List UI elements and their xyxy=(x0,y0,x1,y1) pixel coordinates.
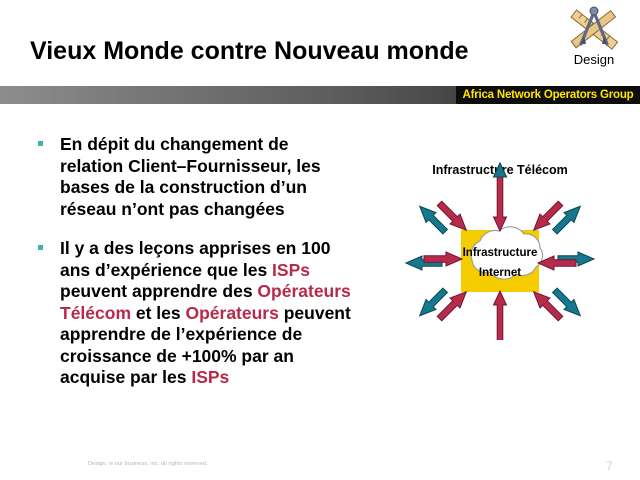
text-run: Opérateurs xyxy=(185,303,278,323)
bullet-text-1: En dépit du changement de relation Clien… xyxy=(60,134,321,219)
compass-ruler-icon xyxy=(566,4,622,52)
cloud-label-line-2: Internet xyxy=(440,267,560,279)
organization-banner: Africa Network Operators Group xyxy=(456,86,640,104)
bullet-list: En dépit du changement de relation Clien… xyxy=(22,134,352,407)
list-item: Il y a des leçons apprises en 100 ans d’… xyxy=(22,238,352,389)
cloud-label-line-1: Infrastructure xyxy=(440,247,560,259)
list-item: En dépit du changement de relation Clien… xyxy=(22,134,352,220)
text-run: ISPs xyxy=(272,260,310,280)
text-run: peuvent apprendre des xyxy=(60,281,257,301)
square-bullet-icon xyxy=(38,141,43,146)
page-number: 7 xyxy=(606,459,613,473)
page-title: Vieux Monde contre Nouveau monde xyxy=(30,36,550,66)
text-run: En dépit du changement de relation Clien… xyxy=(60,134,321,219)
square-bullet-icon xyxy=(38,245,43,250)
footer-copyright: Design, is our business, inc. all rights… xyxy=(88,461,208,467)
text-run: ISPs xyxy=(191,367,229,387)
network-diagram: Infrastructure Télécom xyxy=(360,155,640,340)
logo-caption: Design xyxy=(558,52,630,67)
design-logo: Design xyxy=(558,4,630,74)
bullet-text-2: Il y a des leçons apprises en 100 ans d’… xyxy=(60,238,351,387)
text-run: et les xyxy=(131,303,185,323)
